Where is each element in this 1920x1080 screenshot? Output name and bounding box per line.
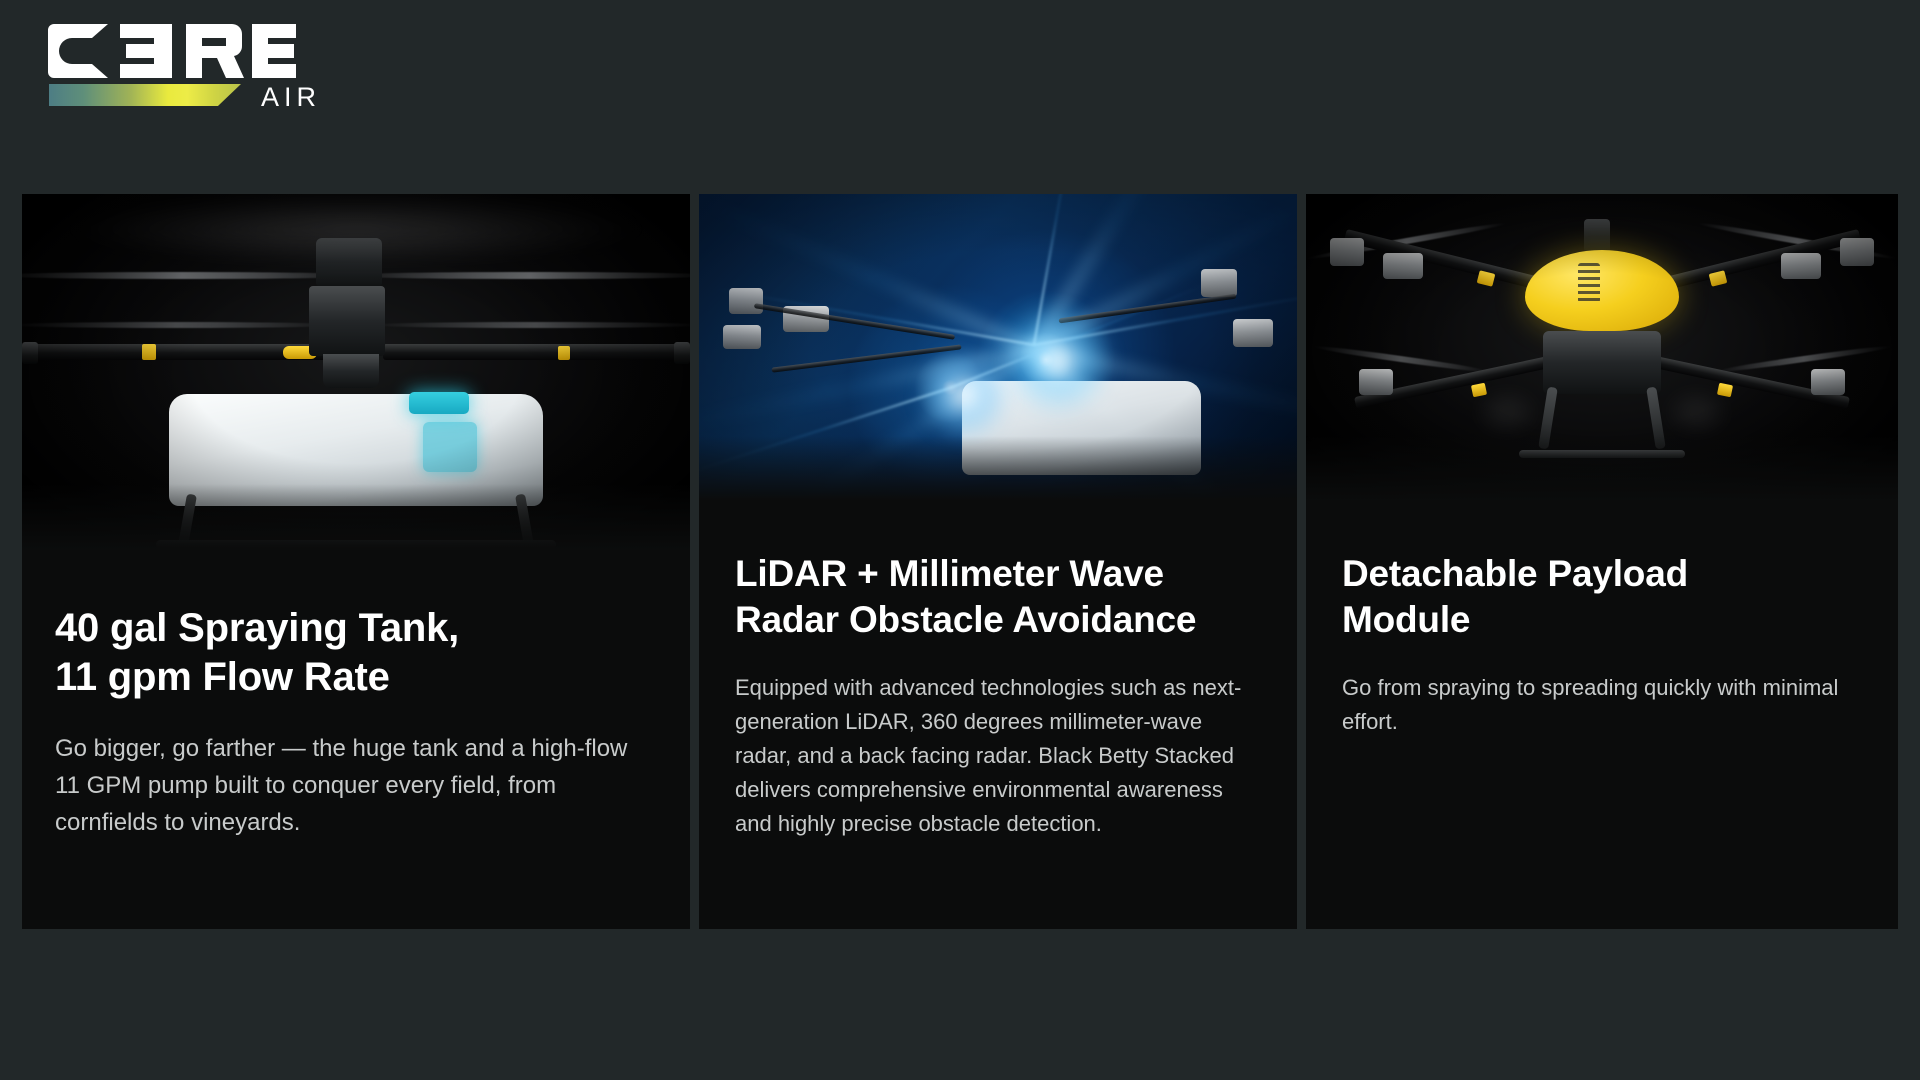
card-title-detachable-payload: Detachable Payload Module — [1342, 551, 1862, 643]
card-body-lidar-radar: LiDAR + Millimeter Wave Radar Obstacle A… — [699, 506, 1297, 929]
card-description-detachable-payload: Go from spraying to spreading quickly wi… — [1342, 671, 1862, 739]
drone-payload-illustration-icon — [1306, 194, 1898, 506]
ceres-wordmark-icon — [46, 22, 296, 80]
feature-card-row: 40 gal Spraying Tank, 11 gpm Flow Rate G… — [22, 194, 1898, 929]
feature-card-lidar-radar[interactable]: LiDAR + Millimeter Wave Radar Obstacle A… — [699, 194, 1297, 929]
brand-logo[interactable]: AIR — [46, 22, 296, 117]
drone-lidar-illustration-icon — [699, 194, 1297, 506]
card-body-spraying-tank: 40 gal Spraying Tank, 11 gpm Flow Rate G… — [22, 554, 690, 929]
card-description-spraying-tank: Go bigger, go farther — the huge tank an… — [55, 730, 654, 842]
card-image-lidar-radar — [699, 194, 1297, 506]
card-title-lidar-radar: LiDAR + Millimeter Wave Radar Obstacle A… — [735, 551, 1261, 643]
card-body-detachable-payload: Detachable Payload Module Go from sprayi… — [1306, 506, 1898, 929]
card-title-spraying-tank: 40 gal Spraying Tank, 11 gpm Flow Rate — [55, 604, 654, 702]
brand-gradient-bar — [49, 84, 241, 106]
feature-card-spraying-tank[interactable]: 40 gal Spraying Tank, 11 gpm Flow Rate G… — [22, 194, 690, 929]
feature-card-detachable-payload[interactable]: Detachable Payload Module Go from sprayi… — [1306, 194, 1898, 929]
card-image-detachable-payload — [1306, 194, 1898, 506]
brand-subtitle: AIR — [261, 82, 321, 113]
card-image-spraying-tank — [22, 194, 690, 554]
drone-spray-illustration-icon — [22, 194, 690, 554]
card-description-lidar-radar: Equipped with advanced technologies such… — [735, 671, 1261, 841]
